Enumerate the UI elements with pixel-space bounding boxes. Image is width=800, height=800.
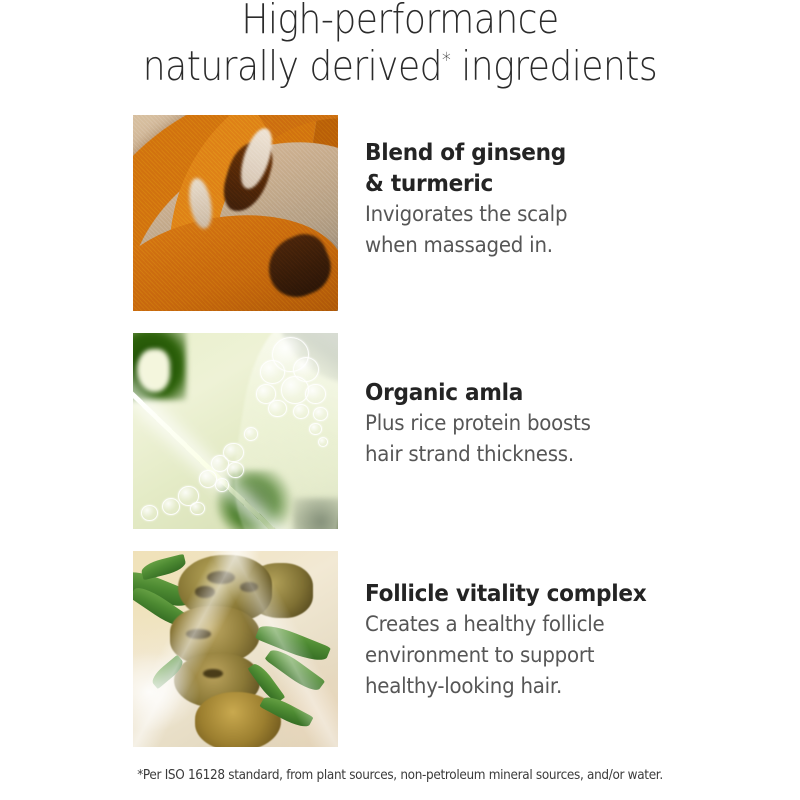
footnote-text: *Per ISO 16128 standard, from plant sour… [137, 768, 663, 783]
amla-bubble-cluster [133, 333, 338, 529]
follicle-complex-photo [133, 551, 338, 747]
feature-desc-line-1: Plus rice protein boosts [365, 408, 722, 439]
feature-row-ginseng-turmeric: Blend of ginseng & turmeric Invigorates … [133, 115, 753, 311]
feature-row-follicle-vitality: Follicle vitality complex Creates a heal… [133, 551, 753, 747]
feature-desc-line-2: when massaged in. [365, 230, 722, 261]
feature-heading-line-1: Organic amla [365, 377, 722, 408]
bubble [141, 505, 157, 521]
feature-desc-line-3: healthy-looking hair. [365, 671, 722, 702]
feature-copy-follicle-vitality: Follicle vitality complex Creates a heal… [365, 551, 753, 702]
bubble [268, 400, 286, 418]
bubble [162, 498, 180, 516]
footnote: *Per ISO 16128 standard, from plant sour… [0, 768, 800, 783]
amla-photo [133, 333, 338, 529]
bubble [244, 427, 258, 441]
ginger-gloss-overlay [133, 551, 338, 747]
page-title-line-1: High-performance [48, 0, 752, 43]
bubble [260, 360, 285, 384]
page-title-line-2: naturally derived* ingredients [48, 43, 752, 90]
feature-heading-line-1: Follicle vitality complex [365, 578, 722, 609]
footnote-asterisk-marker: * [442, 48, 450, 72]
feature-copy-organic-amla: Organic amla Plus rice protein boosts ha… [365, 333, 753, 470]
feature-desc-line-2: hair strand thickness. [365, 439, 722, 470]
turmeric-texture-overlay [133, 115, 338, 311]
amla-photo-art [133, 333, 338, 529]
bubble [293, 404, 309, 420]
page-title-line-2-text: naturally derived [143, 42, 442, 90]
bubble [313, 407, 327, 421]
turmeric-ginseng-photo [133, 115, 338, 311]
bubble [305, 384, 325, 404]
feature-heading-line-1: Blend of ginseng [365, 137, 722, 168]
feature-desc-line-1: Invigorates the scalp [365, 199, 722, 230]
feature-row-organic-amla: Organic amla Plus rice protein boosts ha… [133, 333, 753, 529]
ingredients-infographic: High-performance naturally derived* ingr… [0, 0, 800, 800]
page-title: High-performance naturally derived* ingr… [0, 0, 800, 90]
turmeric-photo-art [133, 115, 338, 311]
bubble [318, 437, 328, 447]
bubble [190, 502, 204, 516]
feature-heading-line-2: & turmeric [365, 168, 722, 199]
bubble [309, 423, 321, 435]
feature-desc-line-1: Creates a healthy follicle [365, 609, 722, 640]
page-title-line-2-tail: ingredients [450, 42, 657, 90]
bubble [215, 478, 229, 492]
bubble [227, 462, 243, 478]
ginger-photo-art [133, 551, 338, 747]
feature-desc-line-2: environment to support [365, 640, 722, 671]
feature-copy-ginseng-turmeric: Blend of ginseng & turmeric Invigorates … [365, 115, 753, 261]
